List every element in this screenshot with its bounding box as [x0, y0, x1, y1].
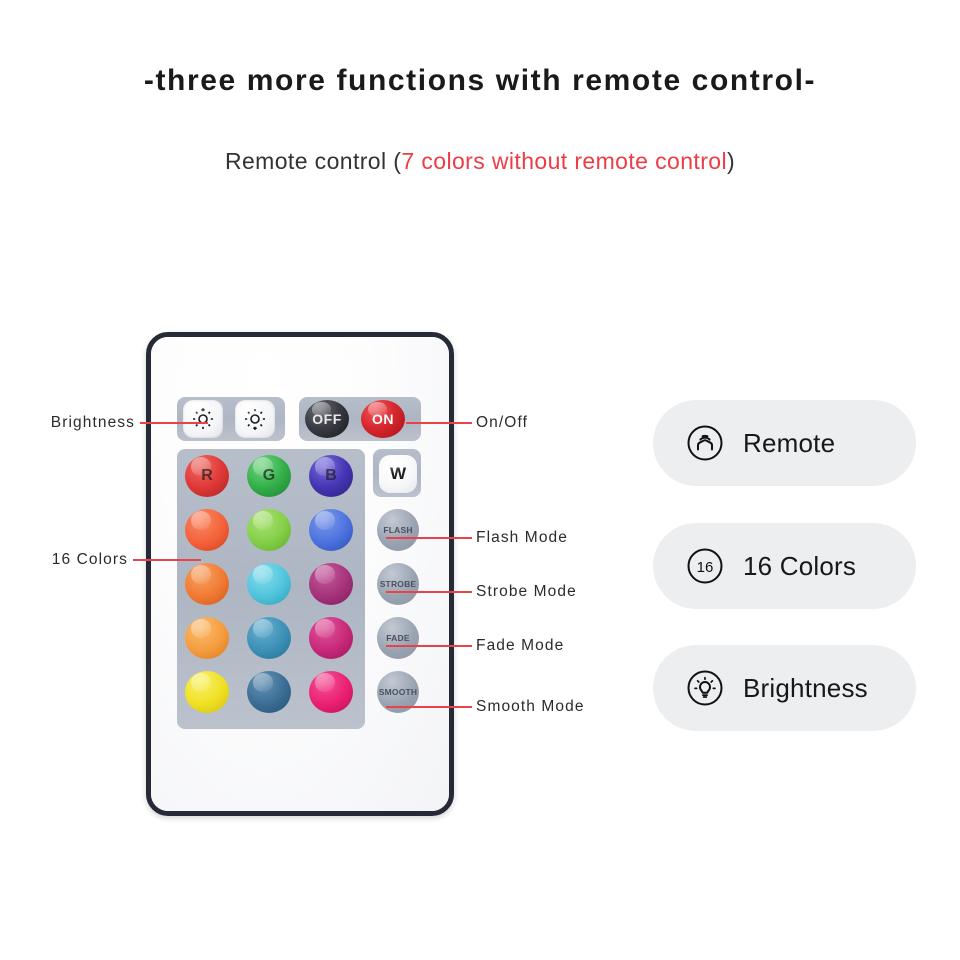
- strobe-mode-button[interactable]: STROBE: [377, 563, 419, 605]
- color-button-cyan[interactable]: [247, 563, 291, 605]
- leader-line-16-colors: [133, 559, 201, 561]
- leader-line-strobe-mode: [386, 591, 472, 593]
- callout-brightness: Brightness: [0, 414, 135, 432]
- color-button-orangered[interactable]: [185, 509, 229, 551]
- feature-pill-16-colors[interactable]: 16 16 Colors: [653, 523, 916, 609]
- color-button-blue[interactable]: B: [309, 455, 353, 497]
- subtitle-accent: 7 colors without remote control: [401, 148, 727, 174]
- remote-control-device: OFF ON W R G B FLASH: [146, 332, 454, 816]
- color-button-orange[interactable]: [185, 563, 229, 605]
- off-button[interactable]: OFF: [305, 400, 349, 438]
- button-gloss: [191, 619, 211, 637]
- button-gloss: [315, 565, 335, 583]
- sun-down-icon: [243, 407, 267, 431]
- button-gloss: [191, 511, 211, 529]
- svg-text:16: 16: [697, 559, 714, 576]
- button-gloss: [191, 673, 211, 691]
- color-button-pink[interactable]: [309, 671, 353, 713]
- page-root: -three more functions with remote contro…: [0, 0, 960, 960]
- brightness-down-button[interactable]: [235, 400, 275, 438]
- bulb-brightness-icon: [685, 668, 725, 708]
- color-button-yellow[interactable]: [185, 671, 229, 713]
- button-gloss: [253, 673, 273, 691]
- color-button-label: R: [185, 455, 229, 497]
- leader-line-brightness: [140, 422, 208, 424]
- leader-line-on-off: [406, 422, 472, 424]
- button-gloss: [253, 565, 273, 583]
- color-button-label: G: [247, 455, 291, 497]
- flash-mode-button[interactable]: FLASH: [377, 509, 419, 551]
- color-button-lightgreen[interactable]: [247, 509, 291, 551]
- feature-pill-brightness[interactable]: Brightness: [653, 645, 916, 731]
- leader-line-fade-mode: [386, 645, 472, 647]
- callout-smooth-mode: Smooth Mode: [476, 698, 585, 716]
- color-button-darkblue[interactable]: [247, 671, 291, 713]
- color-button-magenta[interactable]: [309, 617, 353, 659]
- leader-line-smooth-mode: [386, 706, 472, 708]
- button-gloss: [253, 619, 273, 637]
- color-button-label: B: [309, 455, 353, 497]
- color-button-red[interactable]: R: [185, 455, 229, 497]
- callout-fade-mode: Fade Mode: [476, 637, 564, 655]
- callout-strobe-mode: Strobe Mode: [476, 583, 577, 601]
- leader-line-flash-mode: [386, 537, 472, 539]
- sun-up-icon: [191, 407, 215, 431]
- color-button-steelblue[interactable]: [247, 617, 291, 659]
- remote-face: OFF ON W R G B FLASH: [151, 337, 449, 811]
- subtitle-suffix: ): [727, 148, 735, 174]
- on-button[interactable]: ON: [361, 400, 405, 438]
- callout-flash-mode: Flash Mode: [476, 529, 568, 547]
- button-gloss: [315, 673, 335, 691]
- subtitle-prefix: Remote control (: [225, 148, 401, 174]
- page-subtitle: Remote control (7 colors without remote …: [0, 148, 960, 175]
- remote-signal-icon: [685, 423, 725, 463]
- brightness-up-button[interactable]: [183, 400, 223, 438]
- page-title: -three more functions with remote contro…: [0, 64, 960, 98]
- button-gloss: [191, 565, 211, 583]
- color-button-lightorange[interactable]: [185, 617, 229, 659]
- feature-pill-remote[interactable]: Remote: [653, 400, 916, 486]
- feature-pill-label-remote: Remote: [743, 428, 835, 459]
- button-gloss: [315, 511, 335, 529]
- callout-16-colors: 16 Colors: [0, 551, 128, 569]
- color-button-purple[interactable]: [309, 563, 353, 605]
- sixteen-circle-icon: 16: [685, 546, 725, 586]
- fade-mode-button[interactable]: FADE: [377, 617, 419, 659]
- color-button-white[interactable]: W: [379, 455, 417, 493]
- color-button-green[interactable]: G: [247, 455, 291, 497]
- button-gloss: [253, 511, 273, 529]
- button-gloss: [315, 619, 335, 637]
- color-button-royalblue[interactable]: [309, 509, 353, 551]
- feature-pill-label-brightness: Brightness: [743, 673, 868, 704]
- callout-on-off: On/Off: [476, 414, 528, 432]
- feature-pill-label-16-colors: 16 Colors: [743, 551, 856, 582]
